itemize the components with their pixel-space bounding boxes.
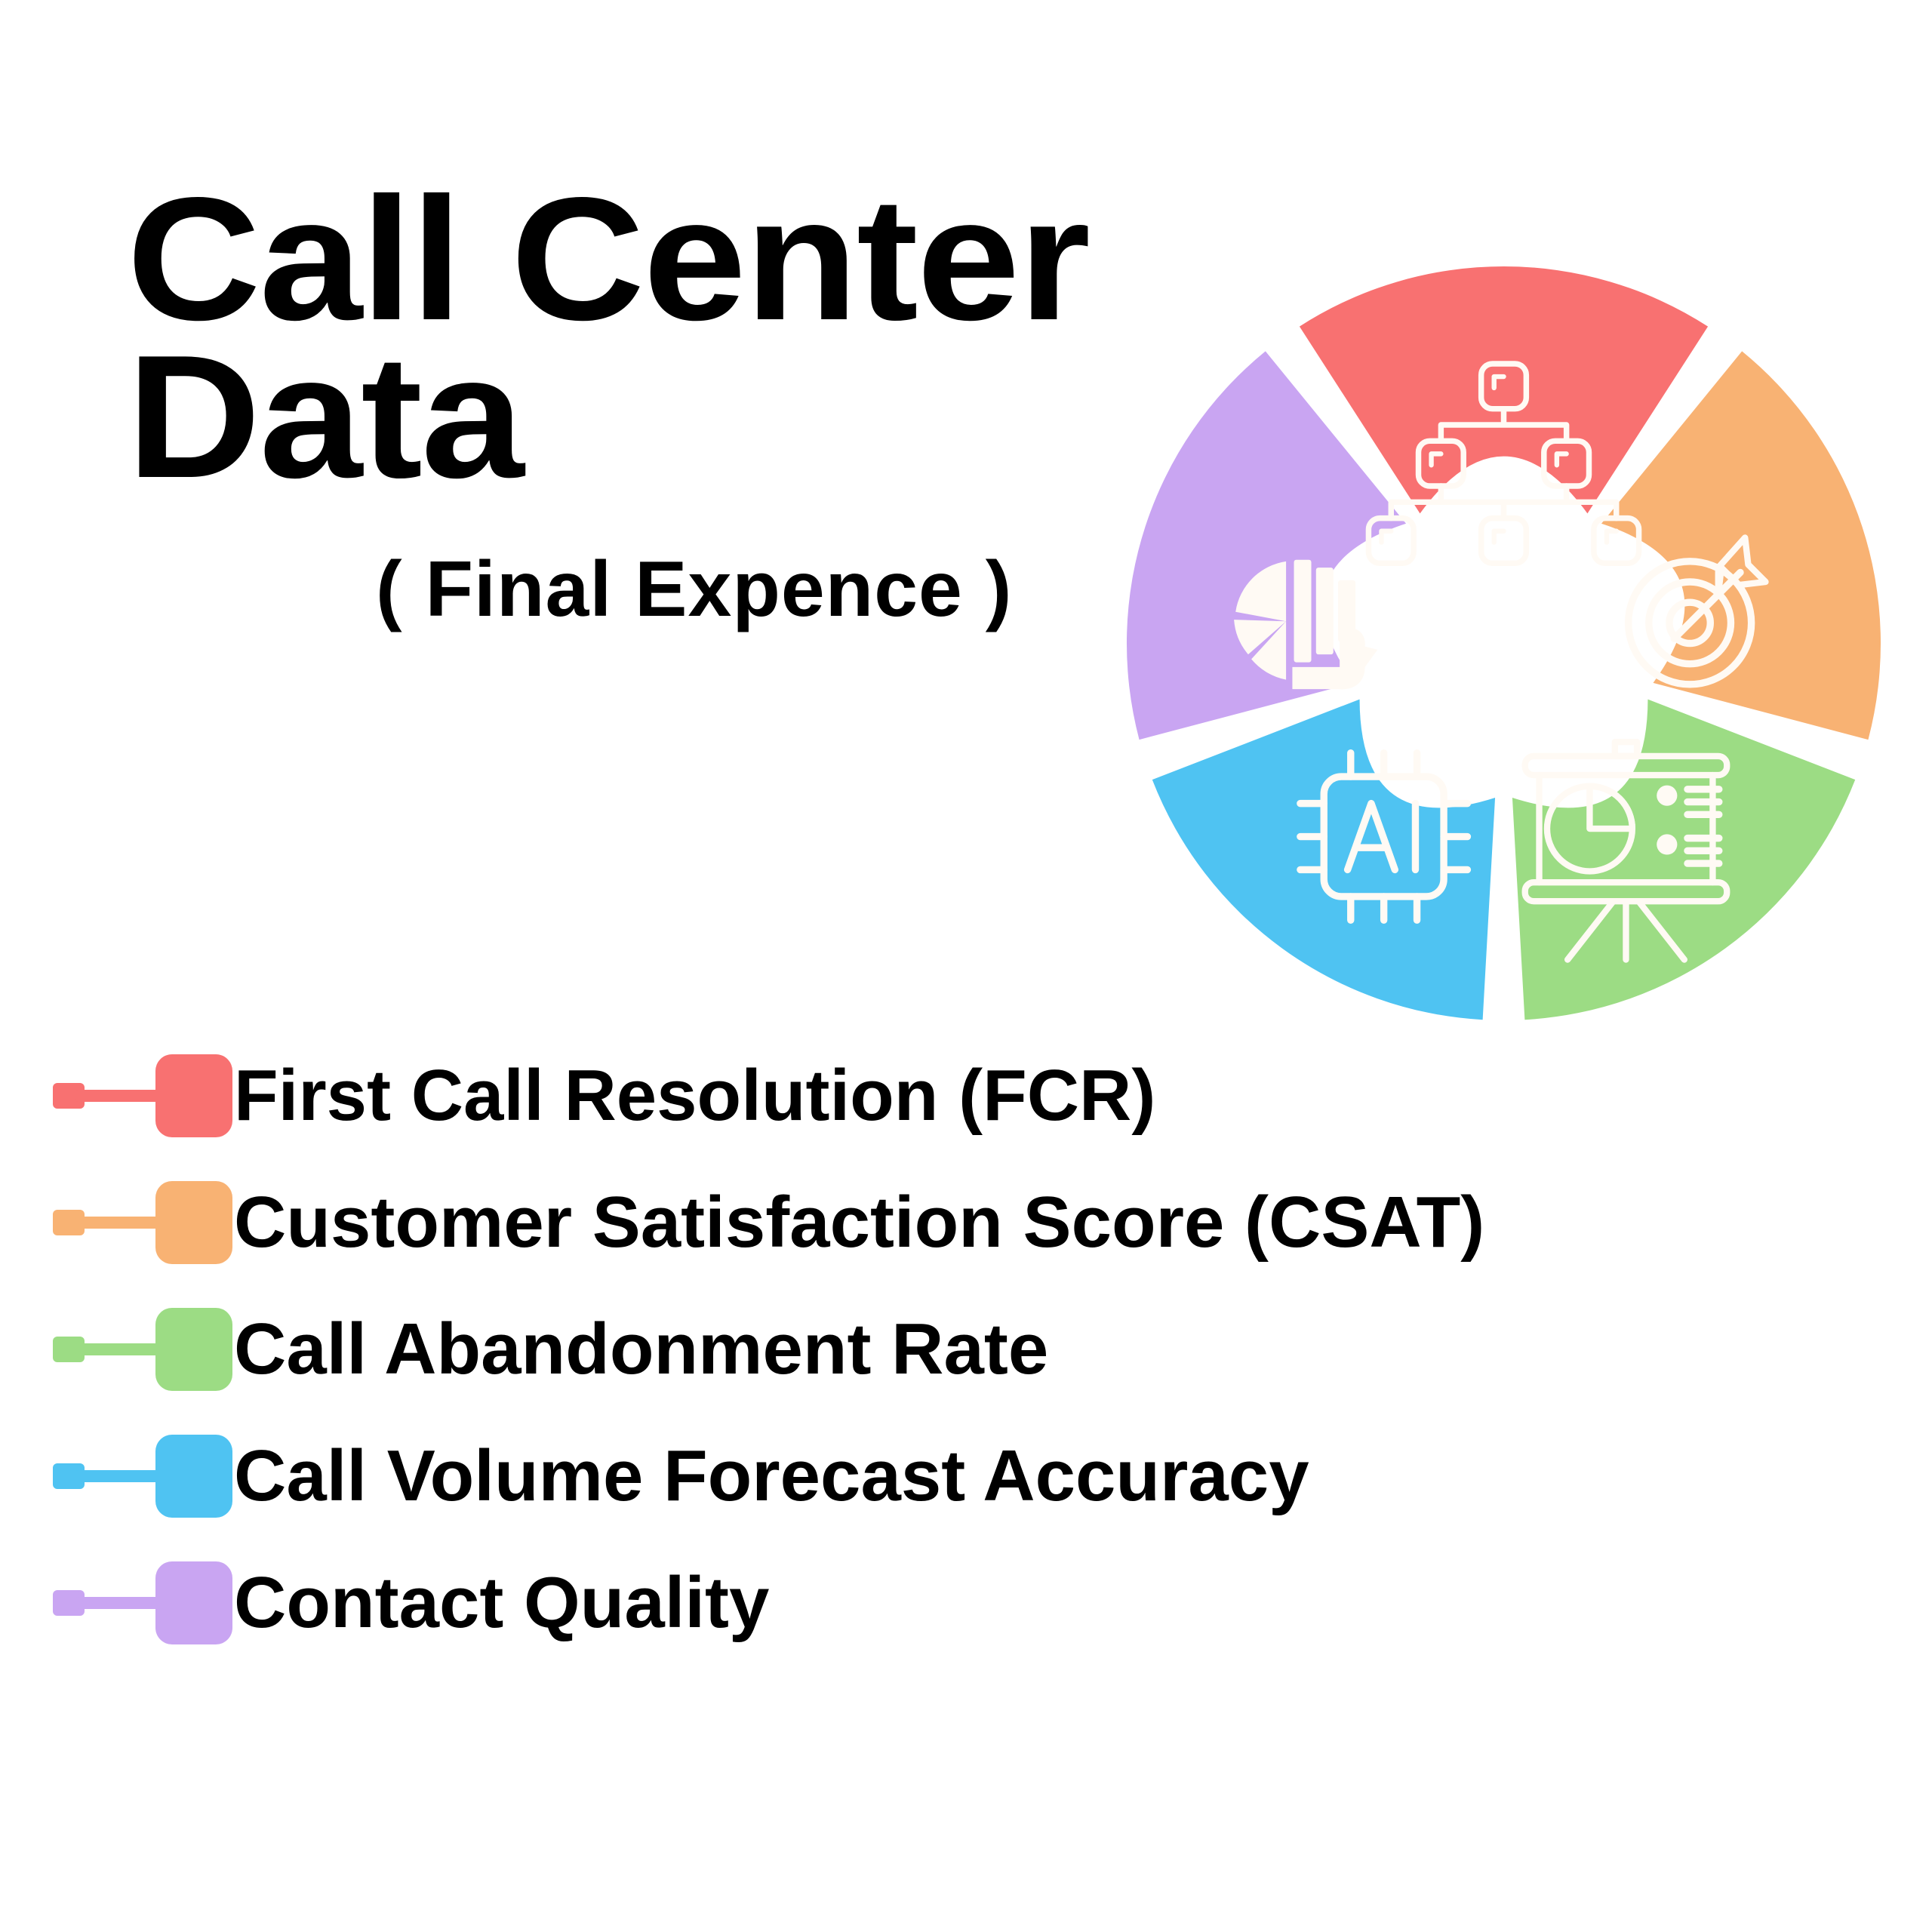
legend-marker <box>53 1308 211 1391</box>
title-block: Call Center Data ( Final Expence ) <box>127 181 1153 635</box>
donut-wheel-svg <box>1109 249 1898 1038</box>
legend-marker <box>53 1561 211 1644</box>
legend-item[interactable]: First Call Resolution (FCR) <box>0 1032 1660 1159</box>
legend-color-swatch <box>155 1181 232 1264</box>
legend-marker-connector <box>75 1597 166 1609</box>
donut-wheel <box>1109 249 1898 1038</box>
legend-label: First Call Resolution (FCR) <box>234 1054 1155 1137</box>
legend-item[interactable]: Contact Quality <box>0 1540 1660 1666</box>
legend-marker <box>53 1054 211 1137</box>
legend: First Call Resolution (FCR)Customer Sati… <box>0 1032 1660 1666</box>
legend-marker-connector <box>75 1343 166 1355</box>
legend-item[interactable]: Customer Satisfaction Score (CSAT) <box>0 1159 1660 1286</box>
legend-color-swatch <box>155 1308 232 1391</box>
legend-item[interactable]: Call Abandonment Rate <box>0 1286 1660 1413</box>
infographic-canvas: Call Center Data ( Final Expence ) <box>0 0 1932 1932</box>
legend-color-swatch <box>155 1561 232 1644</box>
legend-label: Call Volume Forecast Accuracy <box>234 1435 1309 1518</box>
legend-label: Contact Quality <box>234 1561 769 1644</box>
legend-marker-connector <box>75 1217 166 1229</box>
legend-marker-connector <box>75 1090 166 1102</box>
legend-marker-connector <box>75 1470 166 1482</box>
page-title: Call Center Data <box>127 181 1215 497</box>
page-subtitle: ( Final Expence ) <box>127 497 1153 635</box>
legend-color-swatch <box>155 1435 232 1518</box>
legend-label: Call Abandonment Rate <box>234 1308 1048 1391</box>
legend-item[interactable]: Call Volume Forecast Accuracy <box>0 1413 1660 1540</box>
legend-marker <box>53 1435 211 1518</box>
legend-label: Customer Satisfaction Score (CSAT) <box>234 1181 1484 1264</box>
legend-color-swatch <box>155 1054 232 1137</box>
legend-marker <box>53 1181 211 1264</box>
